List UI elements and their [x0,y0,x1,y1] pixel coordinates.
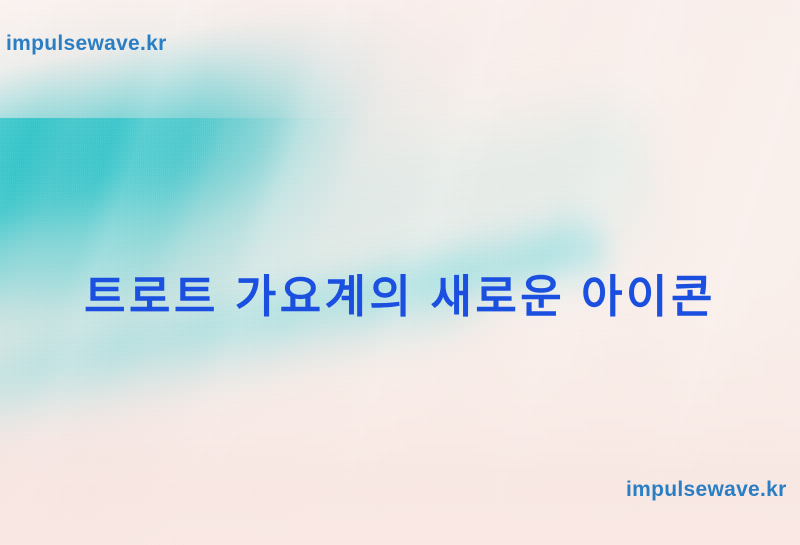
banner-image: impulsewave.kr 트로트 가요계의 새로운 아이콘 impulsew… [0,0,800,545]
background-corner-highlight [0,0,800,118]
watermark-bottom-right: impulsewave.kr [626,478,787,502]
watermark-top-left: impulsewave.kr [6,32,167,56]
headline-text: 트로트 가요계의 새로운 아이콘 [0,273,800,322]
